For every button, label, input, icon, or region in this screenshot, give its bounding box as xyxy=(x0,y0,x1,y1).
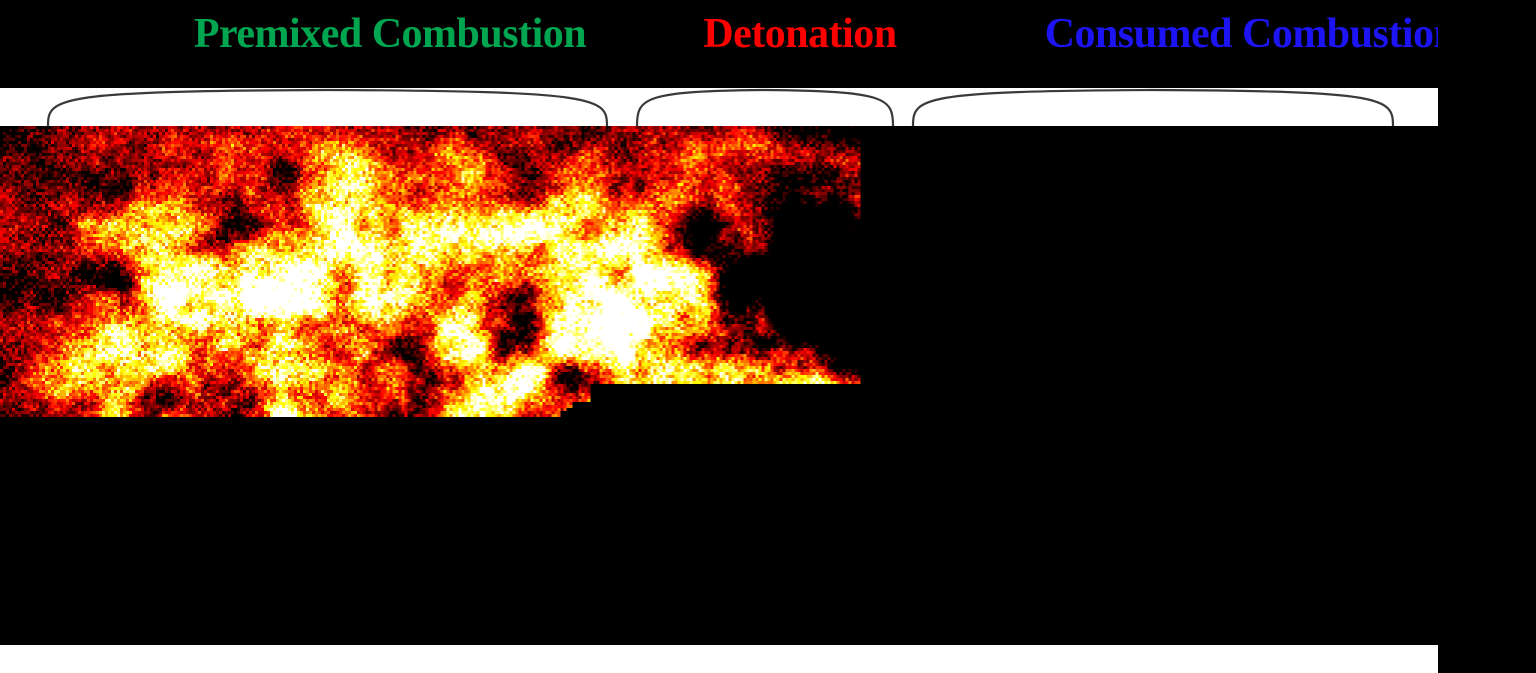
region-label-detonation: Detonation xyxy=(635,8,965,60)
region-label-premixed: Premixed Combustion xyxy=(145,8,635,60)
heatmap-canvas xyxy=(0,126,1433,645)
region-label-band: Premixed Combustion Detonation Consumed … xyxy=(0,0,1536,88)
bottom-strip xyxy=(0,645,1438,673)
brace-detonation xyxy=(634,88,896,126)
figure-root: Premixed Combustion Detonation Consumed … xyxy=(0,0,1536,673)
chemiluminescence-heatmap xyxy=(0,126,1433,645)
brace-consumed xyxy=(910,88,1396,126)
brace-band xyxy=(0,88,1438,126)
right-gutter xyxy=(1438,0,1536,673)
brace-premixed xyxy=(45,88,610,126)
